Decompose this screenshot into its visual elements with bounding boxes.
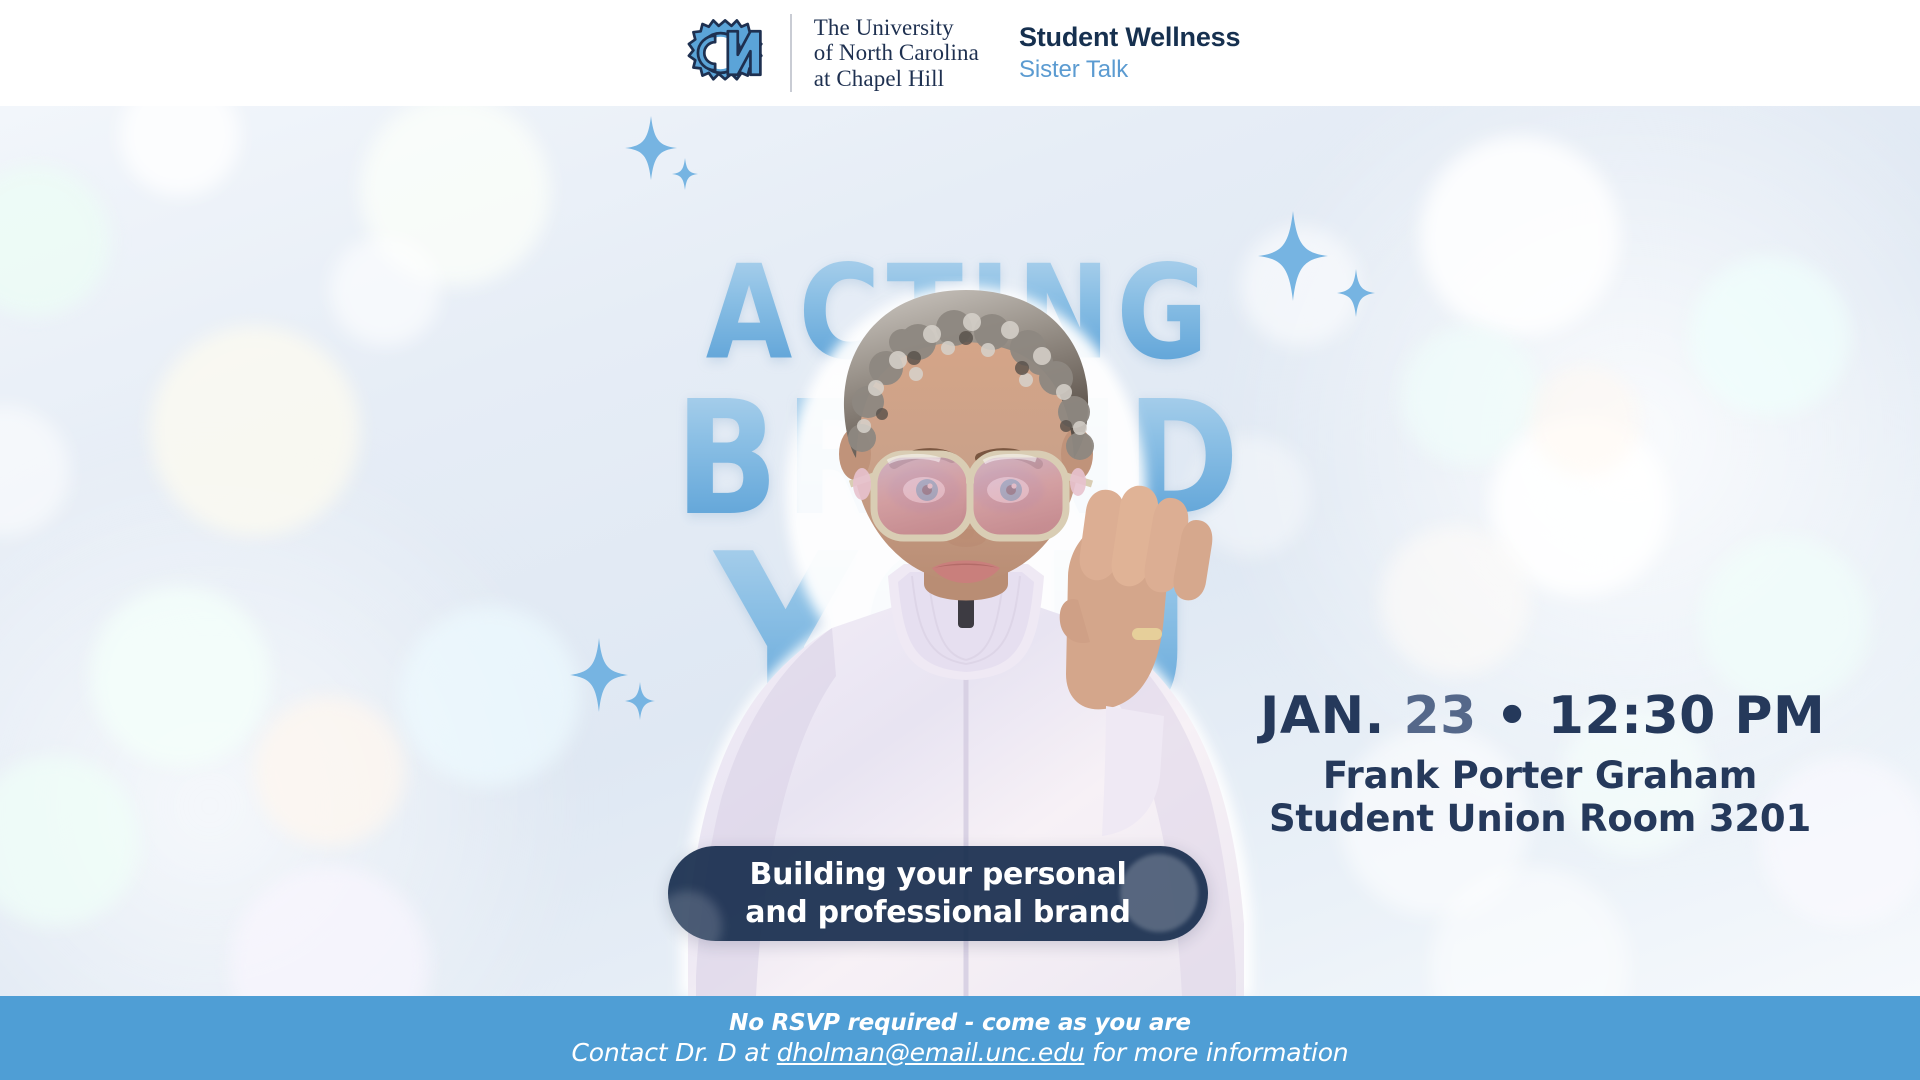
header-inner: The University of North Carolina at Chap… [680, 14, 1241, 92]
sparkle-star-icon [625, 116, 677, 180]
site-header: The University of North Carolina at Chap… [0, 0, 1920, 106]
wordmark-line-3: at Chapel Hill [814, 66, 979, 92]
topic-pill: Building your personal and professional … [668, 846, 1208, 941]
footer-contact-prefix: Contact Dr. D at [572, 1038, 777, 1067]
unc-wordmark: The University of North Carolina at Chap… [814, 15, 979, 92]
unit-block: Student Wellness Sister Talk [1019, 21, 1240, 85]
event-date-time: JAN. 23 • 12:30 PM [1260, 686, 1820, 746]
wordmark-line-2: of North Carolina [814, 40, 979, 66]
event-date-number: 23 [1403, 686, 1476, 746]
topic-pill-line-1: Building your personal [745, 856, 1130, 894]
pill-highlight-circle [1120, 854, 1198, 932]
footer-bar: No RSVP required - come as you are Conta… [0, 996, 1920, 1080]
event-location-line-2: Student Union Room 3201 [1260, 797, 1820, 840]
unc-interlocking-nc-logo-icon [680, 15, 772, 91]
footer-rsvp-note: No RSVP required - come as you are [729, 1009, 1191, 1037]
event-time: • 12:30 PM [1477, 686, 1825, 746]
sparkle-star-icon [570, 638, 628, 712]
unit-subtitle: Sister Talk [1019, 54, 1240, 85]
sparkle-star-small-icon [1337, 269, 1375, 317]
unit-title: Student Wellness [1019, 21, 1240, 54]
event-date-prefix: JAN. [1260, 686, 1403, 746]
event-location: Frank Porter Graham Student Union Room 3… [1260, 754, 1820, 840]
event-location-line-1: Frank Porter Graham [1260, 754, 1820, 797]
wordmark-line-1: The University [814, 15, 979, 41]
sparkle-star-small-icon [672, 158, 698, 190]
pill-highlight-circle-small [668, 891, 722, 941]
topic-pill-line-2: and professional brand [745, 894, 1130, 932]
footer-email-link[interactable]: dholman@email.unc.edu [777, 1038, 1085, 1067]
footer-contact-line: Contact Dr. D at dholman@email.unc.edu f… [572, 1037, 1349, 1068]
event-details: JAN. 23 • 12:30 PM Frank Porter Graham S… [1260, 686, 1820, 840]
logo-divider [790, 14, 792, 92]
footer-contact-suffix: for more information [1084, 1038, 1348, 1067]
topic-pill-text: Building your personal and professional … [745, 856, 1130, 932]
poster-stage: ACTING BRAND YOU [0, 106, 1920, 996]
